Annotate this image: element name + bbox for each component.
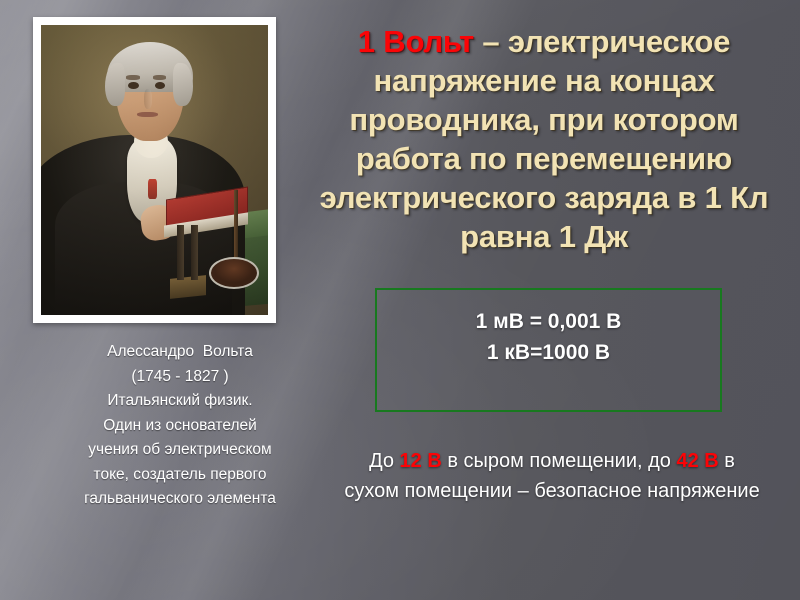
portrait-image-alessandro-volta [41,25,268,315]
portrait-frame [33,17,276,323]
portrait-medal [148,179,157,199]
safety-value-12v: 12 В [400,450,442,472]
safety-value-42v: 42 В [676,450,718,472]
unit-conversion-box: 1 мВ = 0,001 В 1 кВ=1000 В [375,288,722,412]
safe-voltage-note: До 12 В в сыром помещении, до 42 В в сух… [340,446,764,506]
safety-text-5: – безопасное напряжение [518,480,760,502]
slide-headline: 1 Вольт – электрическое напряжение на ко… [298,22,790,256]
safety-text-3: до [648,450,676,472]
portrait-apparatus-dish [209,257,259,289]
portrait-apparatus-rod-2 [191,225,198,280]
safety-text-1: До [369,450,399,472]
portrait-apparatus-rod-1 [177,225,184,280]
portrait-eyebrow-left [126,75,140,79]
presentation-slide: Алессандро Вольта (1745 - 1827 ) Итальян… [0,0,800,600]
portrait-eye-left [128,82,138,89]
portrait-eye-right [155,82,165,89]
safety-text-2: в сыром помещении, [442,450,643,472]
portrait-nose [144,89,152,109]
portrait-apparatus-stand [234,190,239,265]
portrait-eyebrow-right [153,75,167,79]
portrait-mouth [137,112,157,117]
headline-term-highlight: 1 Вольт [358,24,474,59]
portrait-apparatus-base [170,275,206,299]
unit-conversion-text: 1 мВ = 0,001 В 1 кВ=1000 В [377,306,720,368]
portrait-caption: Алессандро Вольта (1745 - 1827 ) Итальян… [10,340,350,512]
portrait-hair-left [105,63,125,107]
